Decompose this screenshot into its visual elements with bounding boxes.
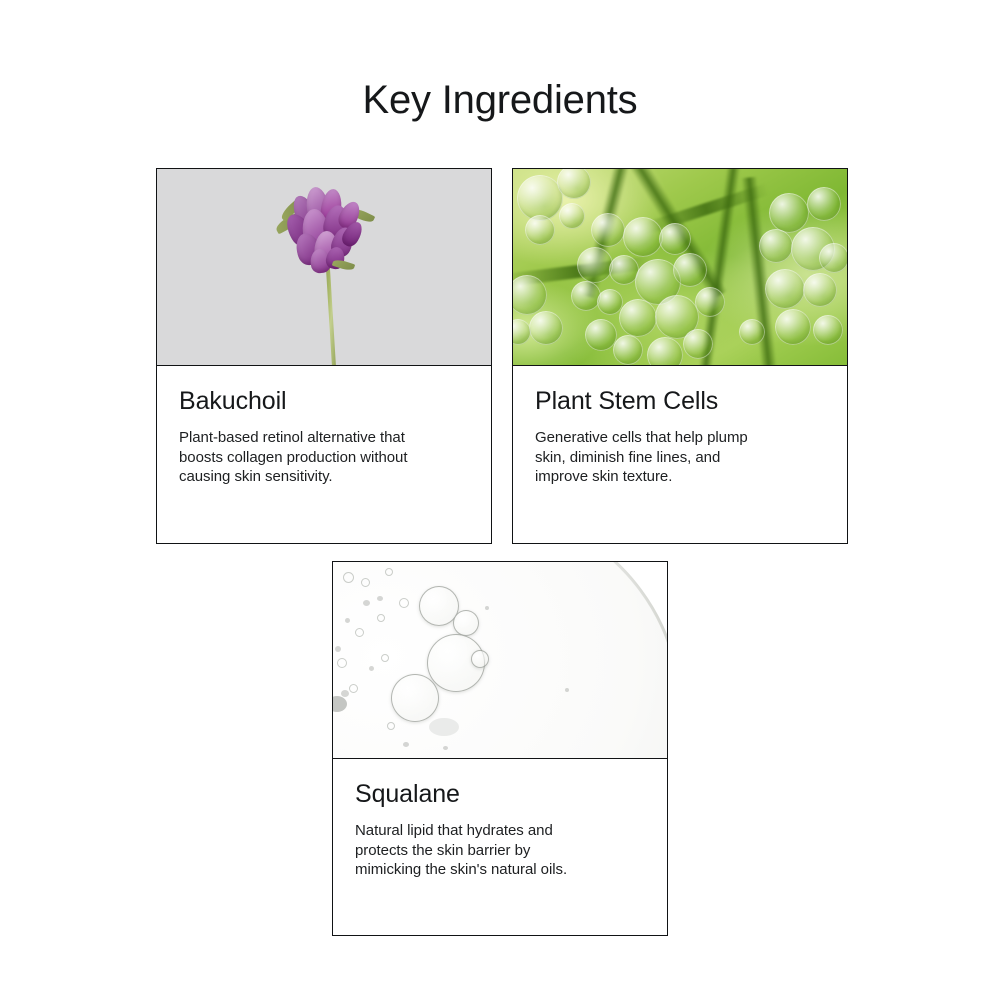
ingredient-description: Natural lipid that hydrates and protects… xyxy=(355,821,645,880)
page-title: Key Ingredients xyxy=(0,74,1000,126)
ingredient-description: Plant-based retinol alternative that boo… xyxy=(179,428,469,487)
clear-gel-droplet-photo xyxy=(333,562,667,759)
flower-head xyxy=(272,187,384,281)
plant-cell-micrograph-photo xyxy=(513,169,847,366)
card-body: Plant Stem Cells Generative cells that h… xyxy=(513,366,847,543)
key-ingredients-page: Key Ingredients xyxy=(0,0,1000,1000)
ingredient-description: Generative cells that help plump skin, d… xyxy=(535,428,825,487)
ingredient-name: Squalane xyxy=(355,779,645,809)
ingredient-name: Bakuchoil xyxy=(179,386,469,416)
ingredient-card-plant-stem-cells[interactable]: Plant Stem Cells Generative cells that h… xyxy=(512,168,848,544)
card-body: Bakuchoil Plant-based retinol alternativ… xyxy=(157,366,491,543)
ingredient-card-squalane[interactable]: Squalane Natural lipid that hydrates and… xyxy=(332,561,668,936)
bakuchi-flower-photo xyxy=(157,169,491,366)
card-body: Squalane Natural lipid that hydrates and… xyxy=(333,759,667,935)
ingredient-name: Plant Stem Cells xyxy=(535,386,825,416)
ingredient-card-bakuchoil[interactable]: Bakuchoil Plant-based retinol alternativ… xyxy=(156,168,492,544)
